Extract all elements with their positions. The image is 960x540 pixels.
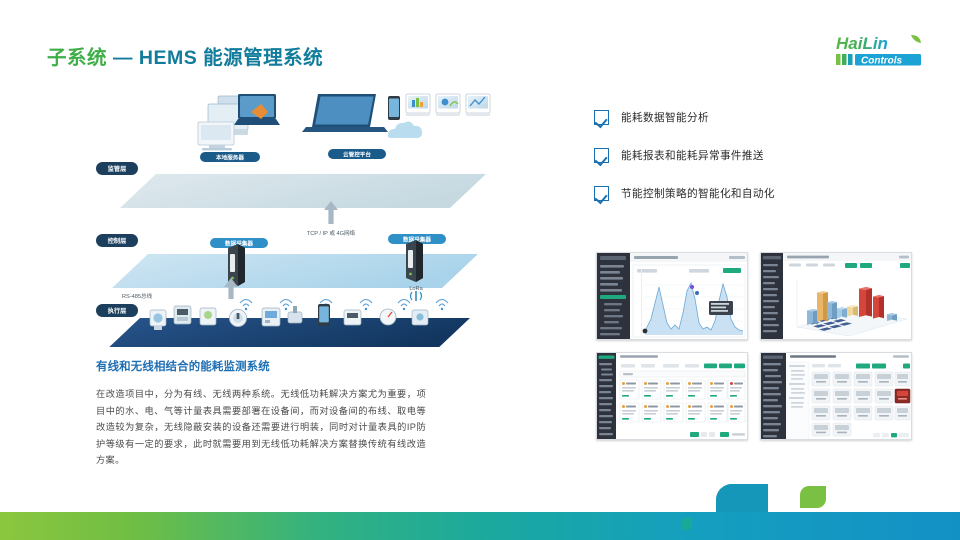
decor-square-green [800, 486, 826, 508]
lora-antenna-icon [411, 291, 422, 301]
logo-bar-3 [848, 54, 853, 65]
caption-block: 有线和无线相结合的能耗监测系统 在改造项目中，分为有线、无线两种系统。无线低功耗… [96, 358, 426, 469]
logo-subtext: Controls [861, 55, 903, 66]
page-title-main: — HEMS 能源管理系统 [113, 47, 323, 69]
checklist-label-2: 节能控制策略的智能化和自动化 [621, 186, 775, 201]
gauge-icon [380, 309, 396, 325]
checklist-label-1: 能耗报表和能耗异常事件推送 [621, 148, 764, 163]
gateway-device-right [406, 240, 423, 282]
checklist-item-2[interactable]: 节能控制策略的智能化和自动化 [594, 184, 775, 202]
layer-plane-supervision [120, 174, 486, 208]
thumbnail-device-card-list[interactable] [596, 352, 748, 440]
decor-square-teal [681, 518, 692, 530]
thumbnail-energy-trend-dashboard[interactable] [596, 252, 748, 340]
thumb-sidebar [761, 353, 786, 440]
meter-gas-icon [200, 308, 216, 325]
screenshot-gallery [596, 252, 912, 440]
cloud-platform-cluster [302, 94, 490, 138]
layer-plane-control [112, 254, 478, 288]
architecture-diagram: 本地服务器 本地服务器 [88, 82, 528, 347]
logo-leaf-icon [911, 35, 921, 43]
local-server-cluster [198, 94, 280, 150]
link-label-rs485: RS-485总线 [122, 292, 153, 300]
check-box-icon[interactable] [594, 148, 609, 163]
caption-heading: 有线和无线相结合的能耗监测系统 [96, 358, 426, 374]
checklist-item-1[interactable]: 能耗报表和能耗异常事件推送 [594, 146, 775, 164]
link-label-network: TCP / IP 或 4G网络 [307, 229, 356, 237]
thumbnail-energy-3d-bar-dashboard[interactable] [760, 252, 912, 340]
mobile-terminal-icon [318, 304, 330, 326]
page-title: 子系统 — HEMS 能源管理系统 [47, 41, 323, 70]
meter-multi-icon [344, 310, 361, 325]
controller-panel-icon [262, 308, 280, 326]
feature-checklist: 能耗数据智能分析 能耗报表和能耗异常事件推送 节能控制策略的智能化和自动化 [594, 108, 775, 222]
hailin-logo: HaiLin Controls [834, 32, 942, 72]
sensor-round-icon [229, 309, 246, 326]
layer-label-execution: 执行层 [108, 307, 127, 315]
thumb-sidebar [597, 353, 616, 440]
check-box-icon[interactable] [594, 110, 609, 125]
node-label-local-server-text: 本地服务器 [216, 153, 244, 161]
page-title-prefix: 子系统 [47, 47, 107, 69]
logo-bar-1 [836, 54, 841, 65]
thumbnail-device-status-board[interactable] [760, 352, 912, 440]
check-box-icon[interactable] [594, 186, 609, 201]
logo-wordmark: HaiLin [836, 34, 888, 53]
logo-bar-2 [842, 54, 847, 65]
thumb-status-card-alarm [895, 389, 910, 403]
meter-flow-icon [412, 310, 428, 325]
checklist-label-0: 能耗数据智能分析 [621, 110, 709, 125]
node-label-cloud-platform: 云管控平台 [343, 150, 371, 158]
layer-label-control: 控制层 [108, 237, 127, 245]
valve-icon [288, 306, 302, 323]
caption-body: 在改造项目中，分为有线、无线两种系统。无线低功耗解决方案尤为重要，项目中的水、电… [96, 386, 426, 469]
checklist-item-0[interactable]: 能耗数据智能分析 [594, 108, 775, 126]
meter-electric-icon [174, 306, 191, 324]
decor-gradient-bar [0, 512, 960, 540]
slide-canvas: 子系统 — HEMS 能源管理系统 HaiLin Controls [0, 0, 960, 540]
layer-label-supervision: 监管层 [108, 165, 127, 173]
cloud-icon [388, 122, 422, 138]
